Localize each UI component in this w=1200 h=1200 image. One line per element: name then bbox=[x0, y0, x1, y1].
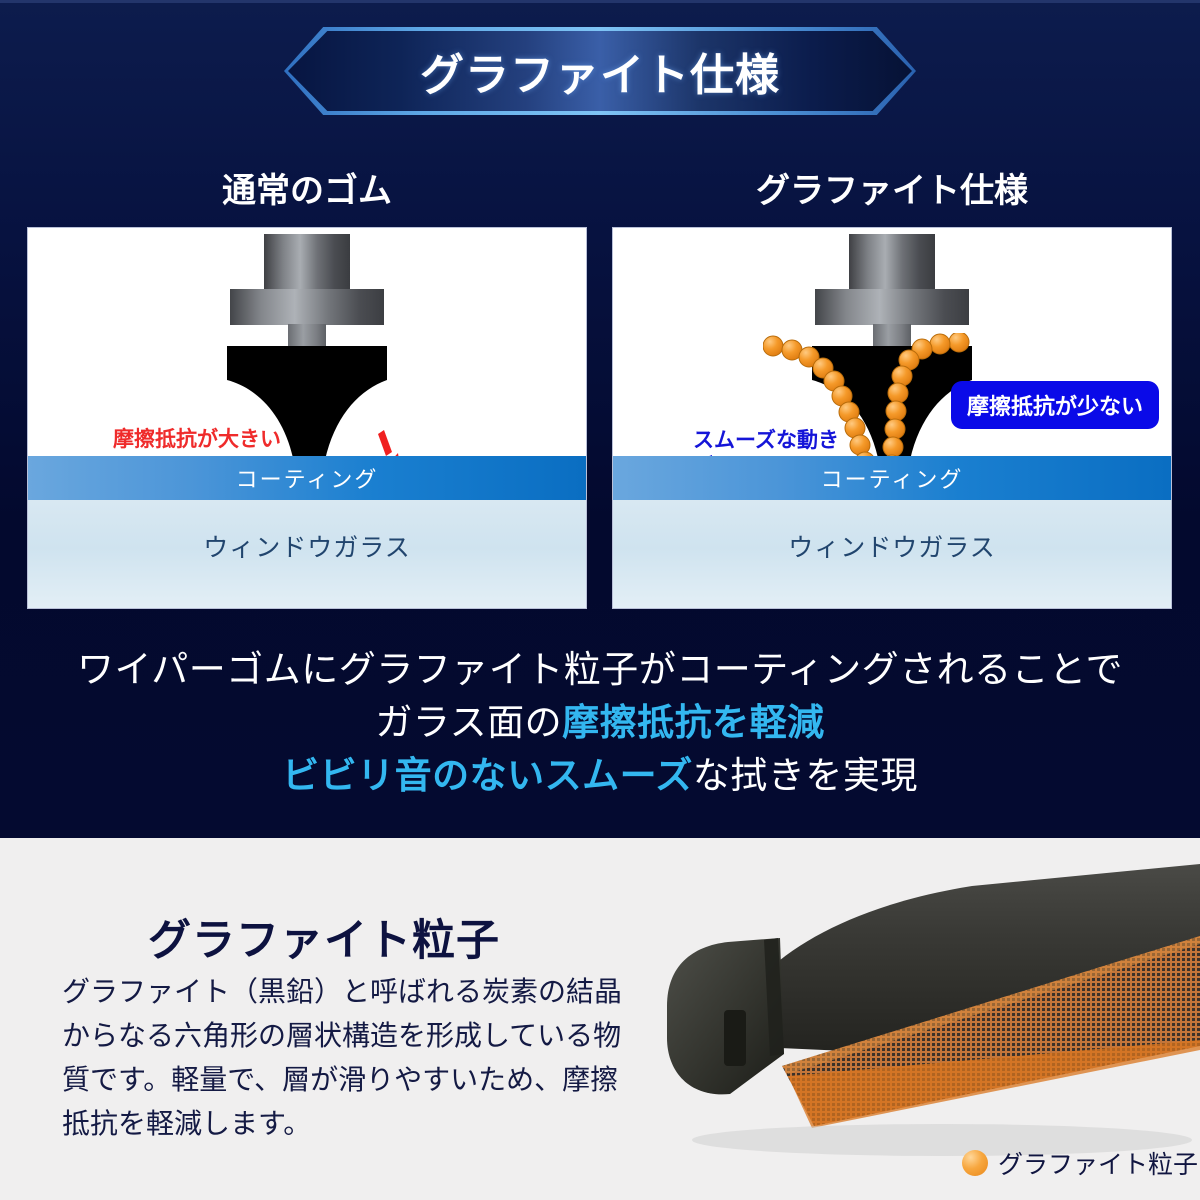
summary-line-3-highlight-b: スムーズ bbox=[545, 755, 693, 796]
arrow-label-high-friction: 摩擦抵抗が大きい bbox=[113, 423, 281, 453]
summary-line-3-plain: な拭きを実現 bbox=[693, 755, 918, 796]
metal-top-cap-icon bbox=[264, 234, 350, 292]
summary-line-2-highlight: 摩擦抵抗を軽減 bbox=[562, 702, 825, 743]
glass-label-right: ウィンドウガラス bbox=[788, 528, 996, 564]
window-glass-layer-right: ウィンドウガラス bbox=[613, 500, 1171, 608]
summary-line-3: ビビリ音のないスムーズな拭きを実現 bbox=[0, 749, 1200, 802]
coating-layer-left: コーティング bbox=[28, 456, 586, 500]
top-navy-section: グラファイト仕様 通常のゴム グラファイト仕様 摩擦でビビリ音 摩擦抵抗が大きい bbox=[0, 0, 1200, 838]
metal-flange-icon bbox=[230, 289, 384, 325]
coating-layer-right: コーティング bbox=[613, 456, 1171, 500]
window-glass-layer-left: ウィンドウガラス bbox=[28, 500, 586, 608]
arrow-label-smooth-motion: スムーズな動き bbox=[693, 424, 839, 454]
photo-graphite-legend-label: グラファイト粒子 bbox=[998, 1145, 1198, 1181]
panel-heading-graphite: グラファイト仕様 bbox=[612, 163, 1172, 212]
title-banner: グラファイト仕様 bbox=[284, 27, 916, 115]
metal-top-cap-icon bbox=[849, 234, 935, 292]
top-edge-highlight bbox=[0, 0, 1200, 3]
banner-title-text: グラファイト仕様 bbox=[284, 27, 916, 115]
summary-text-block: ワイパーゴムにグラファイト粒子がコーティングされることで ガラス面の摩擦抵抗を軽… bbox=[0, 643, 1200, 802]
graphite-particle-dot-icon bbox=[962, 1150, 988, 1176]
panel-heading-normal-rubber: 通常のゴム bbox=[27, 163, 587, 212]
coating-label-right: コーティング bbox=[821, 462, 964, 494]
infographic-root: グラファイト仕様 通常のゴム グラファイト仕様 摩擦でビビリ音 摩擦抵抗が大きい bbox=[0, 0, 1200, 1200]
summary-line-2: ガラス面の摩擦抵抗を軽減 bbox=[0, 696, 1200, 749]
summary-line-1: ワイパーゴムにグラファイト粒子がコーティングされることで bbox=[0, 643, 1200, 696]
diagram-panel-graphite: 摩擦抵抗が少ない スムーズな動き グラファイト粒子 コーティング ウィンドウガラ… bbox=[612, 227, 1172, 609]
summary-line-2-plain: ガラス面の bbox=[375, 702, 562, 743]
glass-label-left: ウィンドウガラス bbox=[203, 528, 411, 564]
metal-flange-icon bbox=[815, 289, 969, 325]
bottom-section-title: グラファイト粒子 bbox=[148, 906, 500, 968]
bottom-section-body: グラファイト（黒鉛）と呼ばれる炭素の結晶からなる六角形の層状構造を形成している物… bbox=[62, 970, 632, 1146]
summary-line-3-highlight-a: ビビリ音のない bbox=[282, 755, 545, 796]
coating-label-left: コーティング bbox=[236, 462, 379, 494]
diagram-panel-normal-rubber: 摩擦でビビリ音 摩擦抵抗が大きい bbox=[27, 227, 587, 609]
badge-low-friction: 摩擦抵抗が少ない bbox=[951, 381, 1159, 429]
photo-graphite-legend: グラファイト粒子 bbox=[962, 1145, 1198, 1181]
